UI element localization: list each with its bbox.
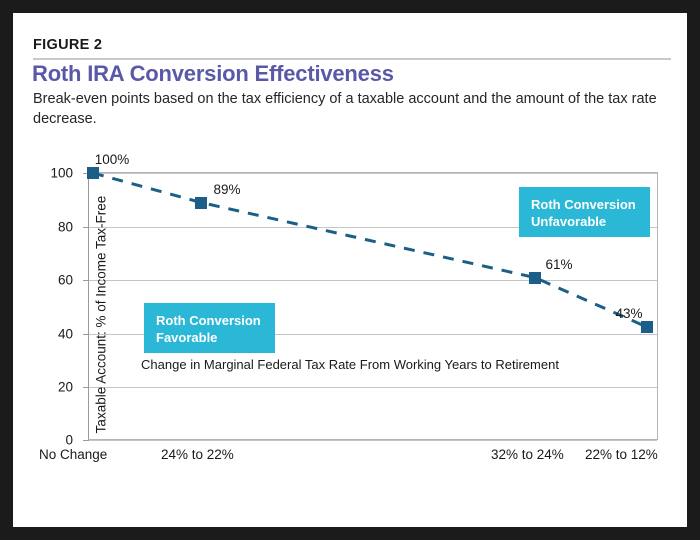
callout-unfavorable: Roth Conversion Unfavorable xyxy=(519,187,650,237)
ytick-label-0: 0 xyxy=(33,433,73,448)
ytick-label-60: 60 xyxy=(33,273,73,288)
callout-favorable-line2: Favorable xyxy=(156,329,263,346)
data-point-label-100: 100% xyxy=(95,152,130,167)
callout-unfavorable-line2: Unfavorable xyxy=(531,213,638,230)
ytick-label-100: 100 xyxy=(33,166,73,181)
xtick-label-32-to-24: 32% to 24% xyxy=(491,447,564,462)
callout-favorable: Roth Conversion Favorable xyxy=(144,303,275,353)
data-point-marker xyxy=(641,321,653,333)
ytick-label-40: 40 xyxy=(33,326,73,341)
y-axis-title: Taxable Account: % of Income Tax-Free xyxy=(94,175,109,455)
xtick-label-24-to-22: 24% to 22% xyxy=(161,447,234,462)
ytick-label-20: 20 xyxy=(33,380,73,395)
data-point-marker xyxy=(195,197,207,209)
plot-area: 100 80 60 40 20 0 100% 89% 61% 43 xyxy=(88,172,658,440)
callout-unfavorable-line1: Roth Conversion xyxy=(531,196,638,213)
data-point-label-43: 43% xyxy=(615,306,642,321)
callout-favorable-line1: Roth Conversion xyxy=(156,312,263,329)
xtick-label-22-to-12: 22% to 12% xyxy=(585,447,658,462)
data-point-label-61: 61% xyxy=(545,257,572,272)
figure-outer-frame: FIGURE 2 Roth IRA Conversion Effectivene… xyxy=(0,0,700,540)
chart-area: 100 80 60 40 20 0 100% 89% 61% 43 xyxy=(13,13,687,527)
x-axis-title: Change in Marginal Federal Tax Rate From… xyxy=(13,357,687,372)
figure-card: FIGURE 2 Roth IRA Conversion Effectivene… xyxy=(13,13,687,527)
data-point-marker xyxy=(529,272,541,284)
xtick-label-no-change: No Change xyxy=(39,447,107,462)
data-point-label-89: 89% xyxy=(213,182,240,197)
ytick-label-80: 80 xyxy=(33,219,73,234)
